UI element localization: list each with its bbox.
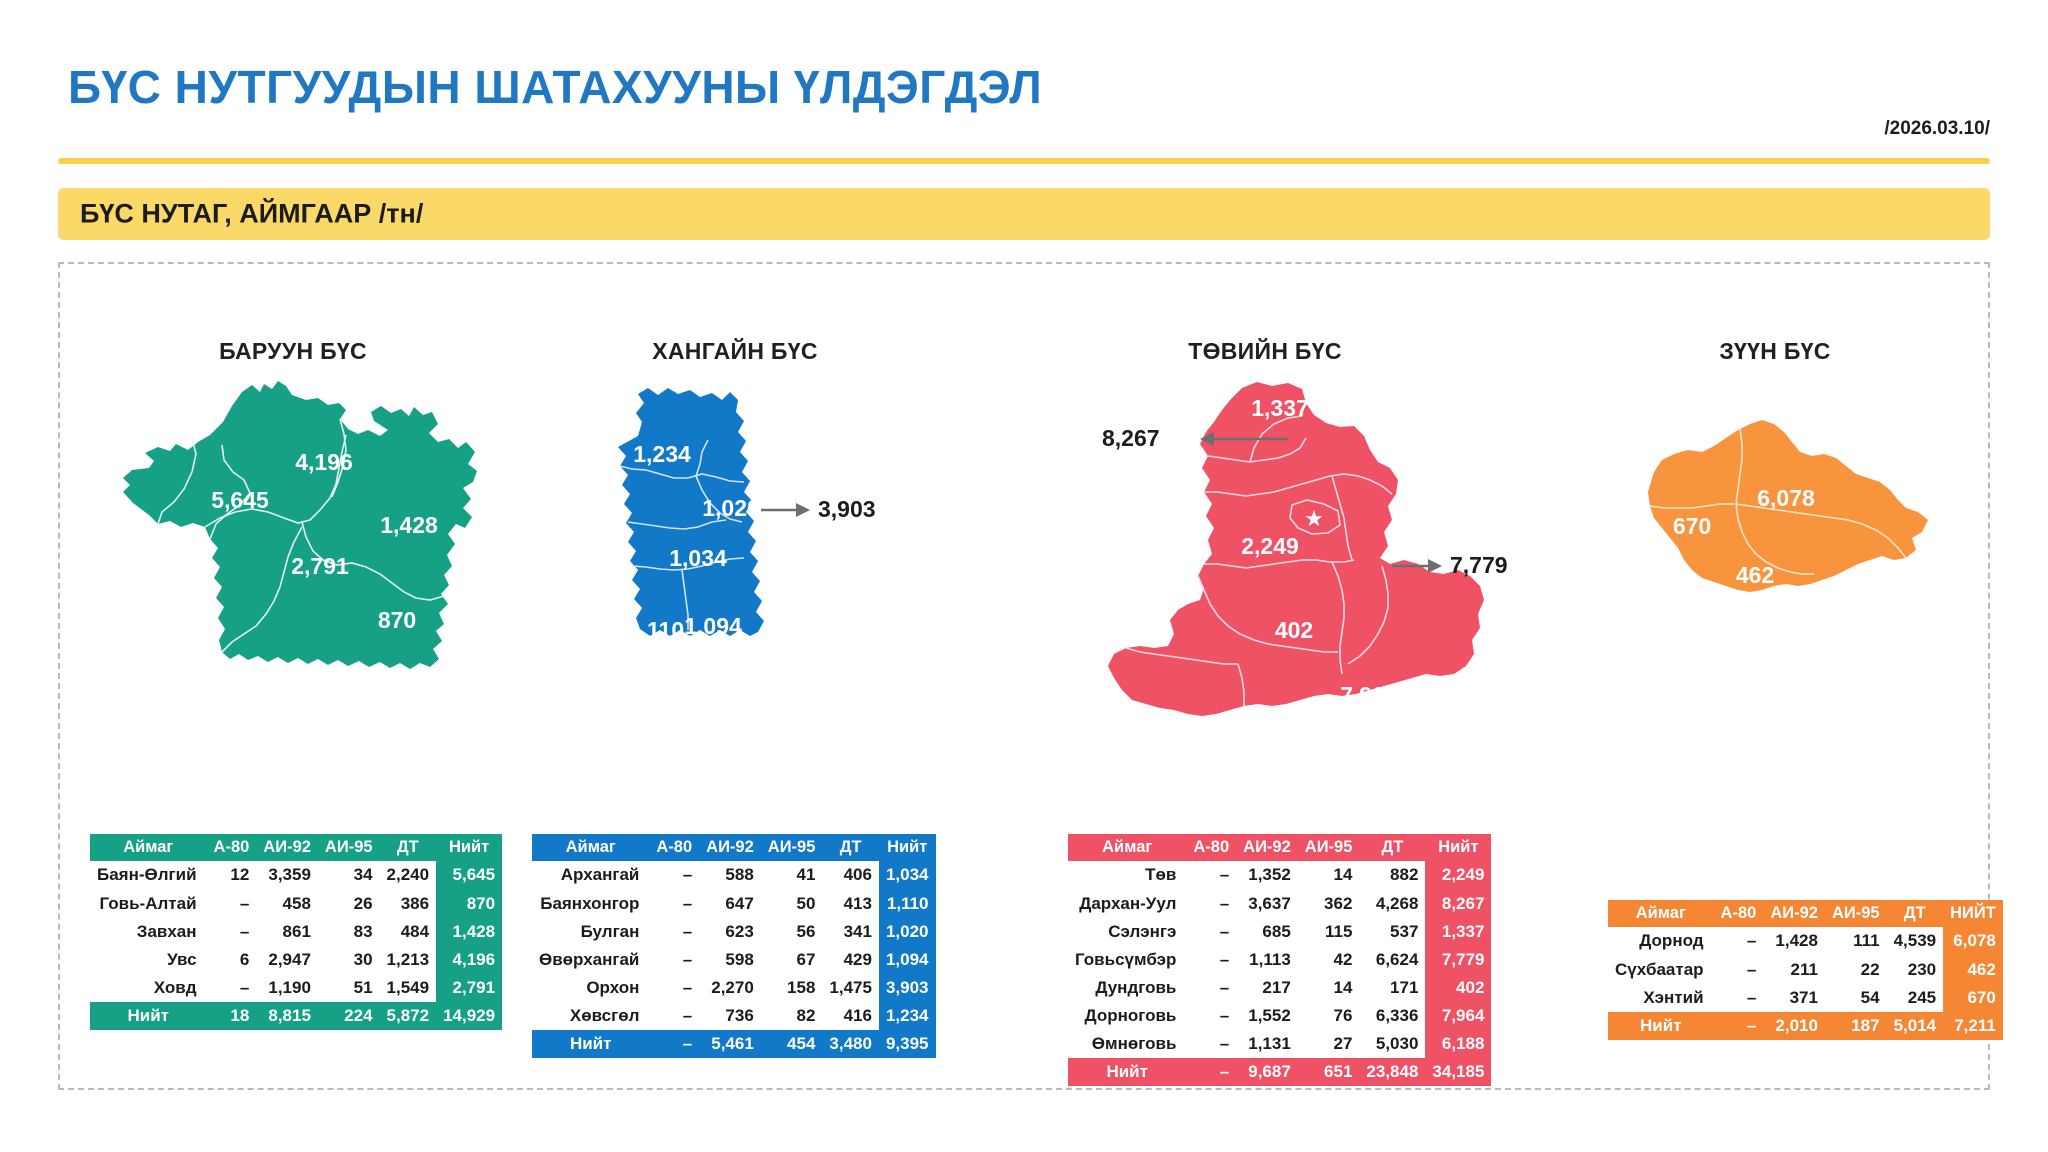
col-ai92: АИ-92 — [256, 834, 318, 861]
cell-a80: – — [649, 974, 699, 1002]
col-a80: А-80 — [1186, 834, 1236, 861]
cell-total-dt: 5,014 — [1887, 1012, 1944, 1040]
col-ai92: АИ-92 — [699, 834, 761, 861]
cell-name: Дорнод — [1608, 927, 1714, 955]
cell-ai92: 588 — [699, 861, 761, 889]
panel-title-west: БАРУУН БҮС — [58, 338, 528, 365]
cell-total: 1,428 — [436, 918, 502, 946]
table-khangai: Аймаг А-80 АИ-92 АИ-95 ДТ Нийт Архангай–… — [532, 834, 936, 1058]
map-label-value: 1,110 — [628, 617, 684, 643]
cell-dt: 413 — [822, 890, 879, 918]
panel-west: БАРУУН БҮС 4,196 5,645 1,428 2,7 — [58, 262, 528, 1092]
cell-ai95: 56 — [761, 918, 823, 946]
col-aimag: Аймаг — [1068, 834, 1186, 861]
panel-title-khangai: ХАНГАЙН БҮС — [500, 338, 970, 365]
arrow-right-icon — [1428, 559, 1442, 573]
col-total: НИЙТ — [1943, 900, 2003, 927]
map-label-value: 7,964 — [1340, 682, 1398, 708]
col-ai95: АИ-95 — [318, 834, 380, 861]
panel-khangai: ХАНГАЙН БҮС 1,234 1,020 1,034 1, — [500, 262, 970, 1092]
cell-ai92: 623 — [699, 918, 761, 946]
cell-name: Говь-Алтай — [90, 890, 207, 918]
cell-dt: 484 — [380, 918, 437, 946]
cell-dt: 4,539 — [1887, 927, 1944, 955]
cell-name: Сэлэнгэ — [1068, 918, 1186, 946]
cell-ai95: 83 — [318, 918, 380, 946]
table-row: Сүхбаатар–21122230462 — [1608, 956, 2003, 984]
cell-total-dt: 23,848 — [1359, 1058, 1425, 1086]
cell-total: 2,249 — [1425, 861, 1491, 889]
table-row: Сэлэнгэ–6851155371,337 — [1068, 918, 1491, 946]
map-label-value: 6,188 — [1205, 721, 1263, 747]
cell-dt: 6,624 — [1359, 946, 1425, 974]
table-central: Аймаг А-80 АИ-92 АИ-95 ДТ Нийт Төв–1,352… — [1068, 834, 1491, 1086]
map-label-value: 1,094 — [684, 613, 742, 639]
col-a80: А-80 — [207, 834, 257, 861]
cell-ai92: 458 — [256, 890, 318, 918]
map-label-value: 2,249 — [1241, 533, 1299, 559]
cell-total: 6,188 — [1425, 1030, 1491, 1058]
cell-a80: – — [1186, 890, 1236, 918]
section-bar: БҮС НУТАГ, АЙМГААР /тн/ — [58, 188, 1990, 240]
map-khangai: 1,234 1,020 1,034 1,110 1,094 3,903 — [578, 370, 878, 710]
cell-a80: – — [649, 890, 699, 918]
title-rule — [58, 158, 1990, 164]
cell-dt: 171 — [1359, 974, 1425, 1002]
cell-total: 1,094 — [879, 946, 936, 974]
cell-ai95: 30 — [318, 946, 380, 974]
cell-ai92: 861 — [256, 918, 318, 946]
cell-a80: – — [649, 918, 699, 946]
col-aimag: Аймаг — [90, 834, 207, 861]
cell-ai95: 50 — [761, 890, 823, 918]
cell-ai95: 42 — [1298, 946, 1360, 974]
col-a80: А-80 — [1714, 900, 1764, 927]
cell-ai95: 26 — [318, 890, 380, 918]
map-label-value: 1,428 — [380, 512, 438, 538]
cell-total-label: Нийт — [90, 1002, 207, 1030]
cell-a80: – — [207, 890, 257, 918]
cell-name: Өмнөговь — [1068, 1030, 1186, 1058]
cell-a80: 6 — [207, 946, 257, 974]
cell-total-total: 34,185 — [1425, 1058, 1491, 1086]
cell-ai92: 685 — [1236, 918, 1298, 946]
section-bar-label: БҮС НУТАГ, АЙМГААР /тн/ — [80, 199, 423, 230]
cell-name: Дорноговь — [1068, 1002, 1186, 1030]
cell-total: 870 — [436, 890, 502, 918]
cell-ai92: 3,637 — [1236, 890, 1298, 918]
map-label-value: 1,020 — [702, 495, 760, 521]
table-row: Төв–1,352148822,249 — [1068, 861, 1491, 889]
table-east: Аймаг А-80 АИ-92 АИ-95 ДТ НИЙТ Дорнод–1,… — [1608, 900, 2003, 1040]
cell-dt: 537 — [1359, 918, 1425, 946]
table-row: Баян-Өлгий123,359342,2405,645 — [90, 861, 502, 889]
cell-name: Хэнтий — [1608, 984, 1714, 1012]
cell-dt: 230 — [1887, 956, 1944, 984]
callout-label-value: 7,779 — [1450, 552, 1508, 578]
cell-total-ai92: 5,461 — [699, 1030, 761, 1058]
cell-ai92: 371 — [1763, 984, 1825, 1012]
cell-name: Говьсүмбэр — [1068, 946, 1186, 974]
cell-a80: – — [649, 946, 699, 974]
map-label-value: 6,078 — [1757, 485, 1815, 511]
col-aimag: Аймаг — [532, 834, 649, 861]
cell-a80: – — [1186, 974, 1236, 1002]
cell-total: 462 — [1943, 956, 2003, 984]
page-title: БҮС НУТГУУДЫН ШАТАХУУНЫ ҮЛДЭГДЭЛ — [68, 60, 1042, 114]
cell-dt: 5,030 — [1359, 1030, 1425, 1058]
cell-dt: 416 — [822, 1002, 879, 1030]
map-label-value: 1,337 — [1251, 395, 1309, 421]
table-footer-row: Нийт – 2,010 187 5,014 7,211 — [1608, 1012, 2003, 1040]
cell-ai92: 217 — [1236, 974, 1298, 1002]
cell-total: 5,645 — [436, 861, 502, 889]
cell-dt: 429 — [822, 946, 879, 974]
cell-a80: – — [649, 1002, 699, 1030]
table-row: Дорнод–1,4281114,5396,078 — [1608, 927, 2003, 955]
map-label-value: 870 — [378, 607, 416, 633]
cell-ai95: 76 — [1298, 1002, 1360, 1030]
infographic-page: БҮС НУТГУУДЫН ШАТАХУУНЫ ҮЛДЭГДЭЛ /2026.0… — [0, 0, 2048, 1152]
map-label-value: 1,034 — [669, 545, 727, 571]
col-dt: ДТ — [380, 834, 437, 861]
cell-total-ai95: 651 — [1298, 1058, 1360, 1086]
cell-name: Төв — [1068, 861, 1186, 889]
cell-total: 1,034 — [879, 861, 936, 889]
col-aimag: Аймаг — [1608, 900, 1714, 927]
col-ai92: АИ-92 — [1763, 900, 1825, 927]
map-label-value: 402 — [1275, 617, 1313, 643]
panel-title-east: ЗҮҮН БҮС — [1540, 338, 2010, 365]
cell-total: 3,903 — [879, 974, 936, 1002]
cell-ai95: 111 — [1825, 927, 1887, 955]
cell-total-ai95: 224 — [318, 1002, 380, 1030]
cell-ai92: 1,113 — [1236, 946, 1298, 974]
cell-ai95: 82 — [761, 1002, 823, 1030]
map-east: 6,078 670 462 — [1640, 412, 1960, 652]
map-label-value: 1,234 — [633, 441, 691, 467]
cell-total: 1,110 — [879, 890, 936, 918]
cell-ai92: 211 — [1763, 956, 1825, 984]
cell-total: 6,078 — [1943, 927, 2003, 955]
cell-ai92: 1,352 — [1236, 861, 1298, 889]
cell-total: 670 — [1943, 984, 2003, 1012]
cell-dt: 341 — [822, 918, 879, 946]
cell-name: Хөвсгөл — [532, 1002, 649, 1030]
cell-ai95: 54 — [1825, 984, 1887, 1012]
table-row: Дундговь–21714171402 — [1068, 974, 1491, 1002]
table-footer-row: Нийт 18 8,815 224 5,872 14,929 — [90, 1002, 502, 1030]
cell-ai95: 158 — [761, 974, 823, 1002]
callout-label-value: 3,903 — [818, 496, 876, 522]
table-row: Увс62,947301,2134,196 — [90, 946, 502, 974]
table-footer-row: Нийт – 9,687 651 23,848 34,185 — [1068, 1058, 1491, 1086]
cell-dt: 1,213 — [380, 946, 437, 974]
table-row: Булган–623563411,020 — [532, 918, 936, 946]
table-row: Өмнөговь–1,131275,0306,188 — [1068, 1030, 1491, 1058]
cell-name: Сүхбаатар — [1608, 956, 1714, 984]
cell-total-a80: 18 — [207, 1002, 257, 1030]
panel-east: ЗҮҮН БҮС 6,078 670 462 — [1540, 262, 2010, 1092]
cell-name: Булган — [532, 918, 649, 946]
table-row: Архангай–588414061,034 — [532, 861, 936, 889]
cell-total: 402 — [1425, 974, 1491, 1002]
col-ai95: АИ-95 — [761, 834, 823, 861]
col-total: Нийт — [879, 834, 936, 861]
cell-name: Дархан-Уул — [1068, 890, 1186, 918]
map-label-value: 462 — [1736, 562, 1774, 588]
table-row: Өвөрхангай–598674291,094 — [532, 946, 936, 974]
cell-dt: 245 — [1887, 984, 1944, 1012]
cell-ai95: 67 — [761, 946, 823, 974]
cell-dt: 386 — [380, 890, 437, 918]
cell-total: 7,964 — [1425, 1002, 1491, 1030]
table-row: Ховд–1,190511,5492,791 — [90, 974, 502, 1002]
cell-total-a80: – — [1714, 1012, 1764, 1040]
cell-ai95: 14 — [1298, 974, 1360, 1002]
cell-ai92: 3,359 — [256, 861, 318, 889]
cell-a80: – — [1186, 1002, 1236, 1030]
cell-dt: 882 — [1359, 861, 1425, 889]
col-total: Нийт — [1425, 834, 1491, 861]
cell-name: Баянхонгор — [532, 890, 649, 918]
cell-a80: – — [1186, 1030, 1236, 1058]
cell-total: 2,791 — [436, 974, 502, 1002]
cell-dt: 406 — [822, 861, 879, 889]
table-header-row: Аймаг А-80 АИ-92 АИ-95 ДТ Нийт — [90, 834, 502, 861]
cell-dt: 1,549 — [380, 974, 437, 1002]
cell-dt: 1,475 — [822, 974, 879, 1002]
col-dt: ДТ — [822, 834, 879, 861]
cell-total-ai92: 9,687 — [1236, 1058, 1298, 1086]
cell-a80: – — [1714, 984, 1764, 1012]
cell-ai95: 22 — [1825, 956, 1887, 984]
cell-name: Орхон — [532, 974, 649, 1002]
callout-khangai-orkhon: 3,903 — [761, 496, 876, 522]
table-west: Аймаг А-80 АИ-92 АИ-95 ДТ Нийт Баян-Өлги… — [90, 834, 502, 1030]
cell-ai92: 736 — [699, 1002, 761, 1030]
cell-total-total: 7,211 — [1943, 1012, 2003, 1040]
panel-title-central: ТӨВИЙН БҮС — [1030, 338, 1500, 365]
cell-dt: 6,336 — [1359, 1002, 1425, 1030]
cell-name: Завхан — [90, 918, 207, 946]
cell-ai92: 2,947 — [256, 946, 318, 974]
cell-total-total: 14,929 — [436, 1002, 502, 1030]
cell-ai92: 598 — [699, 946, 761, 974]
cell-ai95: 51 — [318, 974, 380, 1002]
table-header-row: Аймаг А-80 АИ-92 АИ-95 ДТ НИЙТ — [1608, 900, 2003, 927]
cell-total: 1,020 — [879, 918, 936, 946]
table-row: Завхан–861834841,428 — [90, 918, 502, 946]
table-row: Хөвсгөл–736824161,234 — [532, 1002, 936, 1030]
cell-name: Ховд — [90, 974, 207, 1002]
table-footer-row: Нийт – 5,461 454 3,480 9,395 — [532, 1030, 936, 1058]
cell-ai95: 34 — [318, 861, 380, 889]
col-a80: А-80 — [649, 834, 699, 861]
map-label-value: 5,645 — [211, 487, 269, 513]
col-ai95: АИ-95 — [1825, 900, 1887, 927]
cell-total-dt: 3,480 — [822, 1030, 879, 1058]
cell-ai92: 2,270 — [699, 974, 761, 1002]
cell-name: Баян-Өлгий — [90, 861, 207, 889]
cell-a80: – — [1186, 861, 1236, 889]
cell-a80: – — [649, 861, 699, 889]
cell-name: Өвөрхангай — [532, 946, 649, 974]
cell-dt: 2,240 — [380, 861, 437, 889]
col-ai92: АИ-92 — [1236, 834, 1298, 861]
report-date: /2026.03.10/ — [1884, 118, 1990, 140]
cell-a80: – — [1186, 918, 1236, 946]
map-label-value: 2,791 — [291, 553, 349, 579]
cell-name: Архангай — [532, 861, 649, 889]
cell-ai92: 1,190 — [256, 974, 318, 1002]
table-row: Хэнтий–37154245670 — [1608, 984, 2003, 1012]
cell-ai95: 362 — [1298, 890, 1360, 918]
table-header-row: Аймаг А-80 АИ-92 АИ-95 ДТ Нийт — [1068, 834, 1491, 861]
cell-a80: – — [207, 974, 257, 1002]
cell-dt: 4,268 — [1359, 890, 1425, 918]
col-dt: ДТ — [1359, 834, 1425, 861]
cell-a80: – — [1714, 956, 1764, 984]
cell-a80: – — [1714, 927, 1764, 955]
cell-ai95: 14 — [1298, 861, 1360, 889]
cell-name: Дундговь — [1068, 974, 1186, 1002]
cell-total-label: Нийт — [1608, 1012, 1714, 1040]
cell-total: 8,267 — [1425, 890, 1491, 918]
table-row: Говь-Алтай–45826386870 — [90, 890, 502, 918]
cell-total: 7,779 — [1425, 946, 1491, 974]
map-label-value: 4,196 — [295, 449, 353, 475]
cell-ai95: 41 — [761, 861, 823, 889]
cell-total-label: Нийт — [532, 1030, 649, 1058]
cell-a80: – — [207, 918, 257, 946]
cell-total-ai95: 187 — [1825, 1012, 1887, 1040]
table-row: Орхон–2,2701581,4753,903 — [532, 974, 936, 1002]
cell-total: 1,234 — [879, 1002, 936, 1030]
star-icon: ★ — [1304, 506, 1324, 531]
cell-total-total: 9,395 — [879, 1030, 936, 1058]
cell-a80: 12 — [207, 861, 257, 889]
cell-total-a80: – — [649, 1030, 699, 1058]
col-dt: ДТ — [1887, 900, 1944, 927]
map-west: 4,196 5,645 1,428 2,791 870 — [92, 372, 512, 702]
table-row: Дорноговь–1,552766,3367,964 — [1068, 1002, 1491, 1030]
table-row: Говьсүмбэр–1,113426,6247,779 — [1068, 946, 1491, 974]
cell-total: 4,196 — [436, 946, 502, 974]
cell-total-ai95: 454 — [761, 1030, 823, 1058]
cell-total: 1,337 — [1425, 918, 1491, 946]
cell-total-dt: 5,872 — [380, 1002, 437, 1030]
table-row: Дархан-Уул–3,6373624,2688,267 — [1068, 890, 1491, 918]
table-header-row: Аймаг А-80 АИ-92 АИ-95 ДТ Нийт — [532, 834, 936, 861]
table-row: Баянхонгор–647504131,110 — [532, 890, 936, 918]
cell-total-a80: – — [1186, 1058, 1236, 1086]
col-total: Нийт — [436, 834, 502, 861]
cell-ai92: 647 — [699, 890, 761, 918]
arrow-right-icon — [796, 503, 810, 517]
cell-ai92: 1,131 — [1236, 1030, 1298, 1058]
map-central: ★ 1,337 2,249 402 7,964 6,188 8,267 — [1092, 370, 1512, 790]
callout-label-value: 8,267 — [1102, 425, 1160, 451]
cell-ai95: 115 — [1298, 918, 1360, 946]
cell-total-ai92: 8,815 — [256, 1002, 318, 1030]
cell-name: Увс — [90, 946, 207, 974]
col-ai95: АИ-95 — [1298, 834, 1360, 861]
cell-total-label: Нийт — [1068, 1058, 1186, 1086]
cell-a80: – — [1186, 946, 1236, 974]
cell-ai92: 1,552 — [1236, 1002, 1298, 1030]
map-label-value: 670 — [1673, 513, 1711, 539]
cell-ai92: 1,428 — [1763, 927, 1825, 955]
cell-ai95: 27 — [1298, 1030, 1360, 1058]
cell-total-ai92: 2,010 — [1763, 1012, 1825, 1040]
panel-central: ТӨВИЙН БҮС — [1030, 262, 1500, 1092]
